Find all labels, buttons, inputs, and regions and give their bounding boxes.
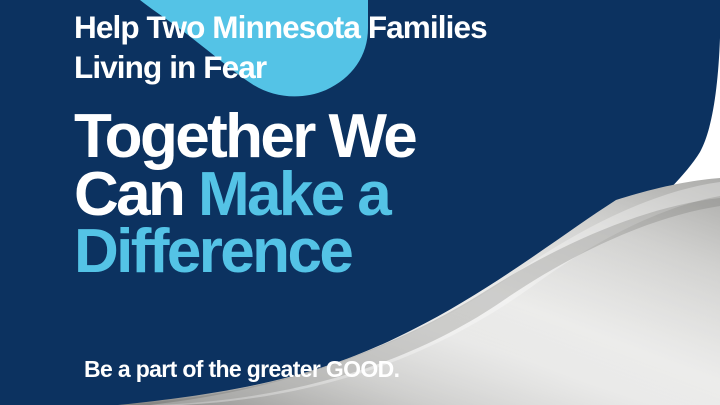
- headline-line-3: Difference: [74, 223, 674, 281]
- poster-content: Help Two Minnesota Families Living in Fe…: [0, 0, 720, 405]
- tagline-text: Be a part of the greater GOOD.: [84, 356, 399, 383]
- main-headline: Together We Can Make a Difference: [74, 108, 674, 281]
- eyebrow-heading: Help Two Minnesota Families Living in Fe…: [74, 8, 654, 87]
- headline-line-3-accent-text: Difference: [74, 217, 351, 286]
- headline-line-2: Can Make a: [74, 166, 674, 224]
- poster-canvas: Help Two Minnesota Families Living in Fe…: [0, 0, 720, 405]
- headline-line-1: Together We: [74, 108, 674, 166]
